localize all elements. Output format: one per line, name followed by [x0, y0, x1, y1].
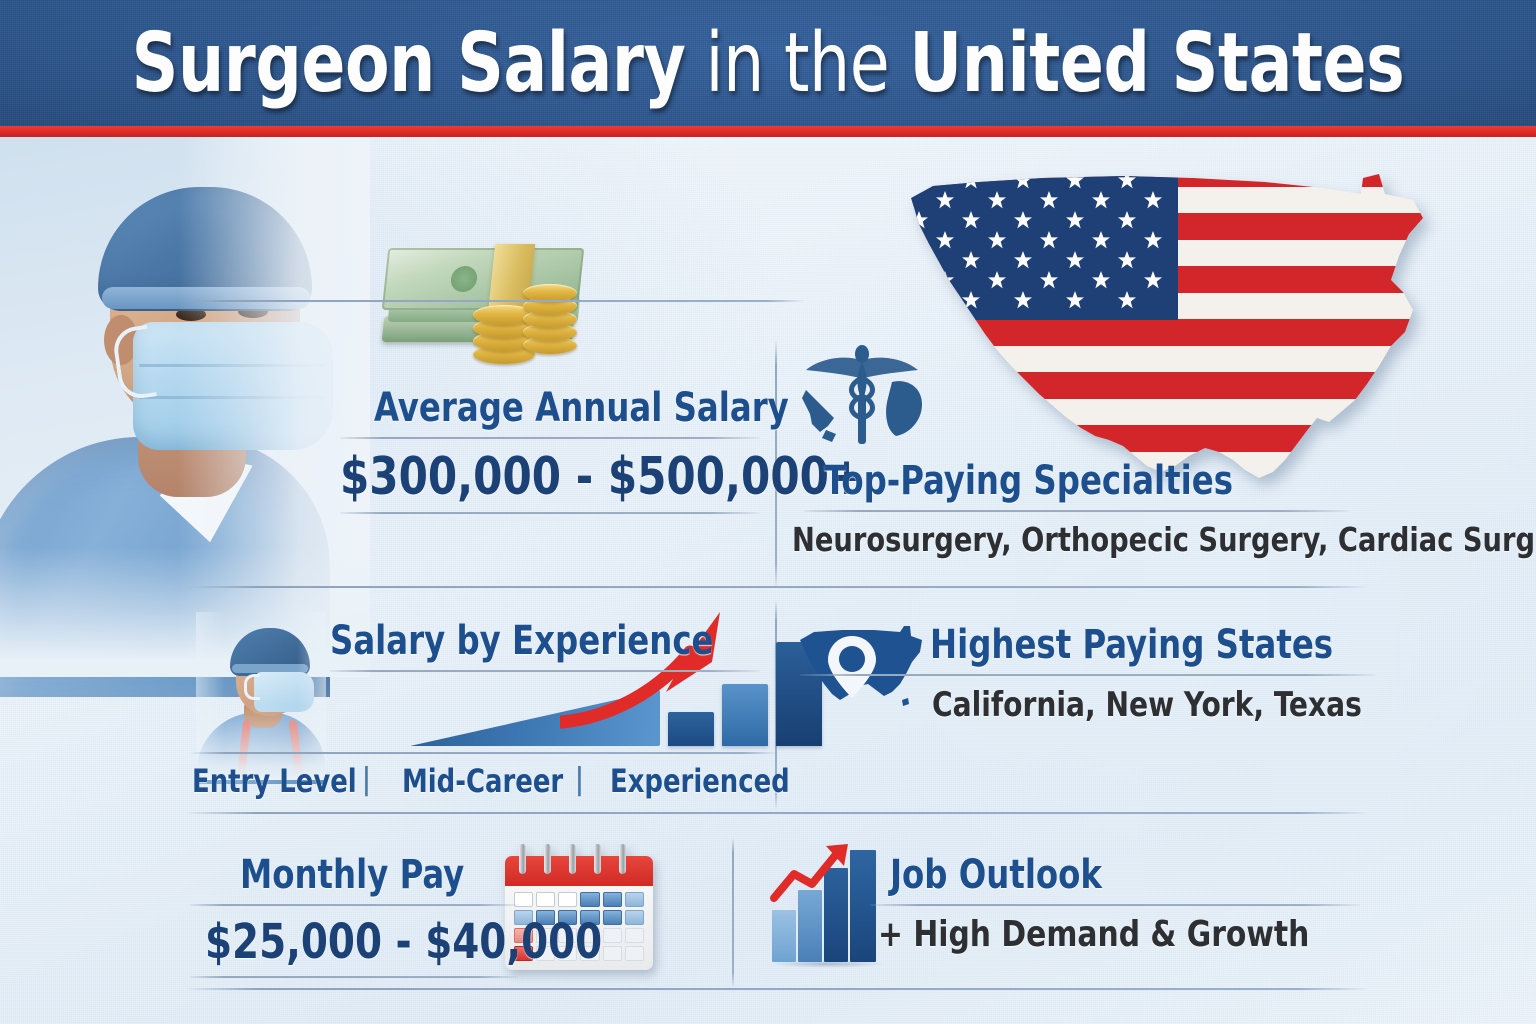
- monthly-pay-label: Monthly Pay: [240, 852, 464, 898]
- salary-experience-rule: [330, 670, 760, 672]
- experience-separator-1: |: [362, 762, 371, 797]
- experience-level-entry: Entry Level: [192, 762, 357, 800]
- job-bar-1: [772, 910, 796, 962]
- highest-paying-states-value: California, New York, Texas: [932, 685, 1362, 725]
- monthly-pay-rule-bottom: [190, 976, 518, 978]
- experience-levels-row: Entry Level | Mid-Career | Experienced: [192, 762, 772, 806]
- average-salary-value: $300,000 - $500,000+: [340, 447, 864, 507]
- calendar-header: [505, 856, 653, 886]
- average-salary-rule-top: [340, 437, 760, 439]
- page-title: Surgeon Salary in the United States: [92, 16, 1444, 112]
- monthly-pay-block: Monthly Pay $25,000 - $40,000: [215, 852, 515, 982]
- job-outlook-label: Job Outlook: [890, 852, 1102, 898]
- small-photo-fade: [196, 612, 326, 780]
- highest-paying-states-block: Highest Paying States California, New Yo…: [930, 622, 1370, 762]
- job-outlook-block: Job Outlook + High Demand & Growth: [890, 852, 1360, 982]
- salary-experience-label: Salary by Experience: [330, 618, 713, 664]
- divider-horizontal-1: [185, 586, 1370, 588]
- job-growth-arrow-red-icon: [768, 840, 888, 910]
- average-salary-label: Average Annual Salary: [374, 385, 789, 431]
- header-red-stripe: [0, 126, 1536, 137]
- divider-horizontal-3: [185, 988, 1370, 990]
- surgeon-portrait-photo: [0, 137, 370, 677]
- calendar-ring-1: [519, 844, 526, 874]
- infographic-canvas: Surgeon Salary in the United States: [0, 0, 1536, 1024]
- average-salary-block: Average Annual Salary $300,000 - $500,00…: [340, 385, 760, 525]
- caduceus-icon: [796, 338, 926, 454]
- job-outlook-value: + High Demand & Growth: [878, 914, 1309, 955]
- us-map-flag-icon: [893, 160, 1453, 505]
- top-specialties-rule: [804, 510, 1349, 512]
- experience-separator-2: |: [575, 762, 584, 797]
- top-specialties-label: Top-Paying Specialties: [824, 458, 1233, 504]
- calendar-ring-2: [544, 844, 551, 874]
- calendar-ring-4: [594, 844, 601, 874]
- divider-horizontal-2: [185, 812, 1370, 814]
- job-outlook-rule: [870, 904, 1360, 906]
- top-specialties-block: Top-Paying Specialties Neurosurgery, Ort…: [824, 458, 1354, 578]
- average-salary-rule-bottom: [340, 512, 760, 514]
- calendar-ring-5: [619, 844, 626, 874]
- calendar-ring-3: [569, 844, 576, 874]
- us-map-pin-icon: [796, 622, 926, 714]
- monthly-pay-value: $25,000 - $40,000: [205, 914, 602, 970]
- experience-level-mid: Mid-Career: [402, 762, 563, 800]
- divider-vertical-row3: [732, 838, 734, 988]
- header-banner: Surgeon Salary in the United States: [0, 0, 1536, 126]
- divider-horizontal-top: [185, 300, 805, 302]
- title-part-light: in the: [685, 16, 909, 111]
- experience-level-experienced: Experienced: [610, 762, 790, 800]
- monthly-pay-rule-top: [190, 904, 518, 906]
- cash-stack-icon: [355, 232, 605, 382]
- top-specialties-value: Neurosurgery, Orthopecic Surgery, Cardia…: [792, 520, 1536, 559]
- title-part-bold-1: Surgeon Salary: [132, 16, 686, 111]
- surgeon-figure-photo: [196, 612, 326, 780]
- title-part-bold-2: United States: [909, 16, 1404, 111]
- highest-paying-states-label: Highest Paying States: [930, 622, 1333, 668]
- highest-paying-states-rule: [800, 674, 1375, 676]
